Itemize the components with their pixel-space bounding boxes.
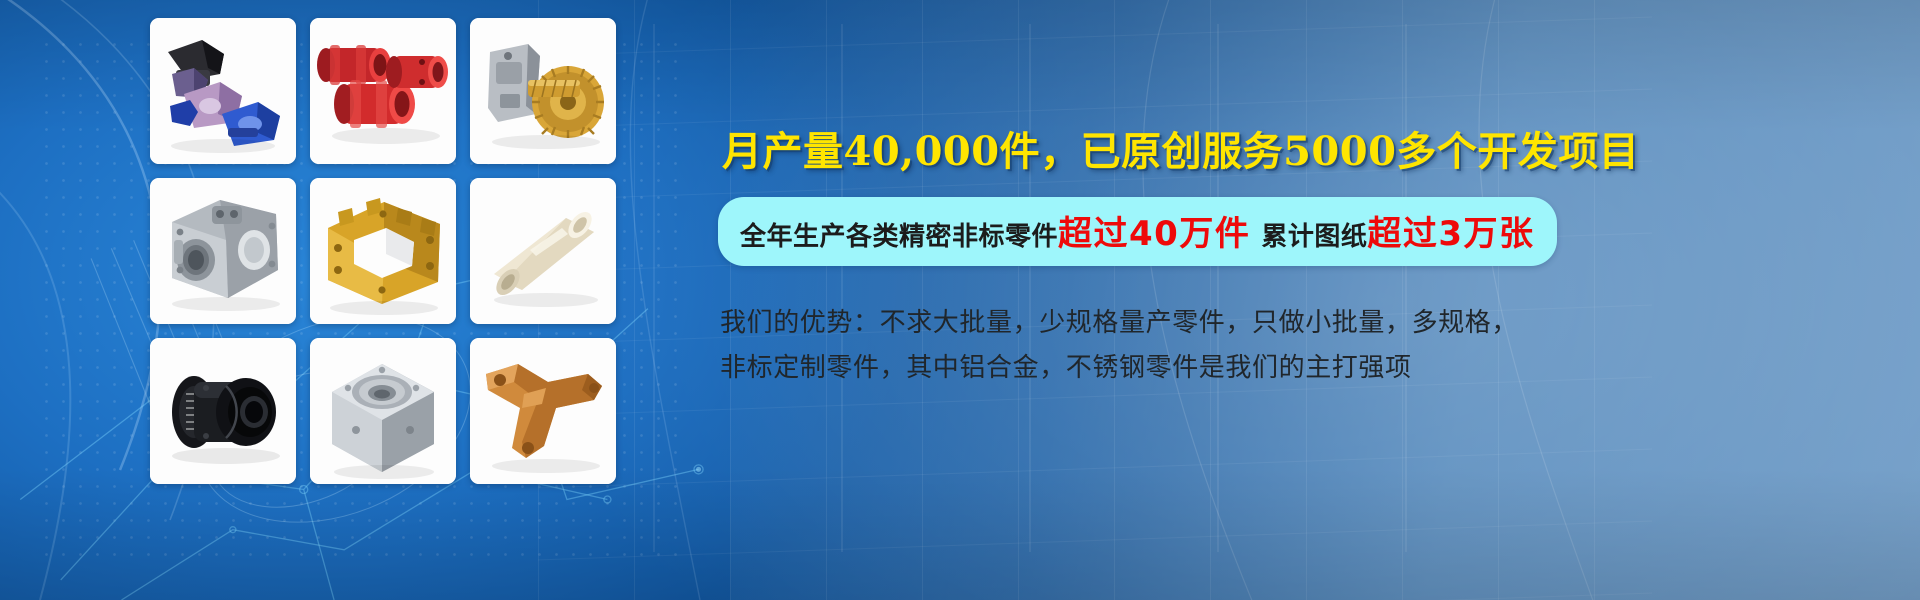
pill-stat-two: 超过3万张 — [1367, 214, 1534, 254]
product-photo-gold-mold-plate — [310, 178, 456, 324]
product-image-grid — [150, 18, 616, 482]
banner-headline: 月产量40,000件，已原创服务5000多个开发项目 — [718, 128, 1878, 175]
description-line-2: 非标定制零件，其中铝合金，不锈钢零件是我们的主打强项 — [720, 345, 1740, 390]
product-card[interactable] — [310, 338, 456, 484]
pill-stat-one: 超过40万件 — [1058, 214, 1250, 254]
pill-mid-text: 累计图纸 — [1261, 221, 1367, 251]
product-photo-white-nylon-tube — [470, 178, 616, 324]
banner-description: 我们的优势：不求大批量，少规格量产零件，只做小批量，多规格， 非标定制零件，其中… — [720, 300, 1740, 389]
product-photo-machined-brackets — [150, 18, 296, 164]
product-card[interactable] — [470, 178, 616, 324]
product-photo-black-round-housing — [150, 338, 296, 484]
product-photo-brass-gear-shaft — [470, 18, 616, 164]
description-line-1: 我们的优势：不求大批量，少规格量产零件，只做小批量，多规格， — [720, 300, 1740, 345]
product-photo-copper-structural-arm — [470, 338, 616, 484]
product-photo-red-cylindrical-housings — [310, 18, 456, 164]
banner-content: 月产量40,000件，已原创服务5000多个开发项目 全年生产各类精密非标零件超… — [718, 128, 1878, 390]
product-card[interactable] — [470, 338, 616, 484]
highlight-pill: 全年生产各类精密非标零件超过40万件累计图纸超过3万张 — [718, 197, 1557, 266]
product-card[interactable] — [310, 178, 456, 324]
promo-banner: 月产量40,000件，已原创服务5000多个开发项目 全年生产各类精密非标零件超… — [0, 0, 1920, 600]
product-card[interactable] — [470, 18, 616, 164]
product-card[interactable] — [150, 338, 296, 484]
product-card[interactable] — [150, 178, 296, 324]
product-photo-aluminum-cube-manifold — [310, 338, 456, 484]
product-card[interactable] — [310, 18, 456, 164]
pill-lead-text: 全年生产各类精密非标零件 — [740, 221, 1058, 251]
product-photo-aluminum-gearbox-housing — [150, 178, 296, 324]
product-card[interactable] — [150, 18, 296, 164]
